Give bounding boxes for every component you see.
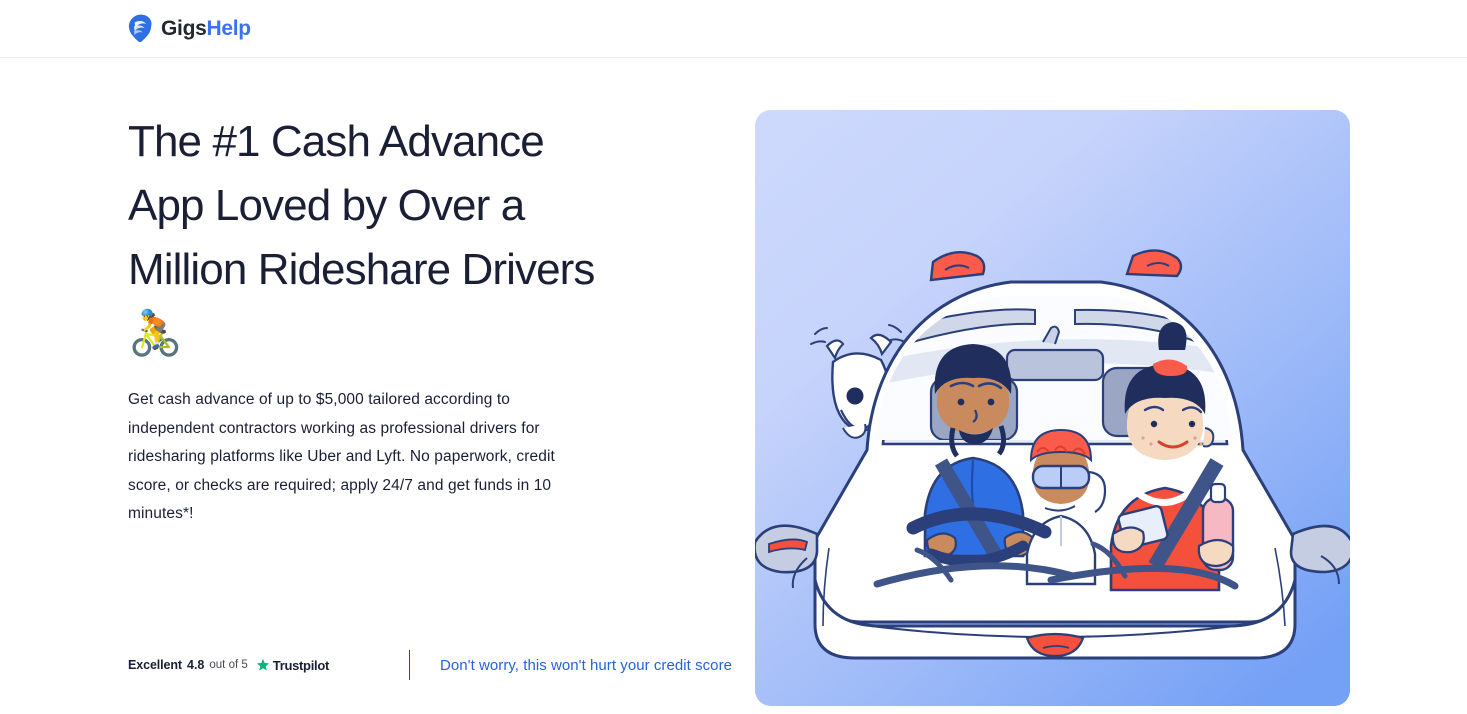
trustpilot-name: Trustpilot bbox=[273, 658, 329, 673]
trustpilot-logo: Trustpilot bbox=[256, 658, 329, 673]
trustpilot-star-icon bbox=[256, 658, 270, 672]
hero-copy-column: The #1 Cash Advance App Loved by Over a … bbox=[128, 110, 598, 714]
hero-description: Get cash advance of up to $5,000 tailore… bbox=[128, 386, 560, 529]
trustpilot-rating[interactable]: Excellent 4.8 out of 5 Trustpilot bbox=[128, 658, 329, 673]
site-header: GigsHelp bbox=[0, 0, 1467, 58]
rating-score: 4.8 bbox=[187, 658, 204, 672]
brand-logo-link[interactable]: GigsHelp bbox=[128, 14, 251, 43]
hero-illustration-column bbox=[598, 110, 1350, 706]
page-title-text: The #1 Cash Advance App Loved by Over a … bbox=[128, 117, 595, 358]
rating-out-of: out of 5 bbox=[209, 659, 247, 671]
gigshelp-pin-logo-icon bbox=[128, 14, 154, 43]
credit-score-note[interactable]: Don't worry, this won't hurt your credit… bbox=[440, 657, 732, 674]
family-in-car-illustration bbox=[755, 110, 1350, 706]
vertical-divider bbox=[409, 650, 410, 680]
page-title: The #1 Cash Advance App Loved by Over a … bbox=[128, 110, 598, 366]
brand-name-first: Gigs bbox=[161, 17, 206, 40]
brand-name-second: Help bbox=[206, 17, 250, 40]
rating-verdict: Excellent bbox=[128, 658, 182, 672]
hero-section: The #1 Cash Advance App Loved by Over a … bbox=[0, 58, 1467, 714]
social-proof-row: Excellent 4.8 out of 5 Trustpilot Don't … bbox=[128, 650, 732, 680]
brand-name: GigsHelp bbox=[161, 18, 251, 39]
